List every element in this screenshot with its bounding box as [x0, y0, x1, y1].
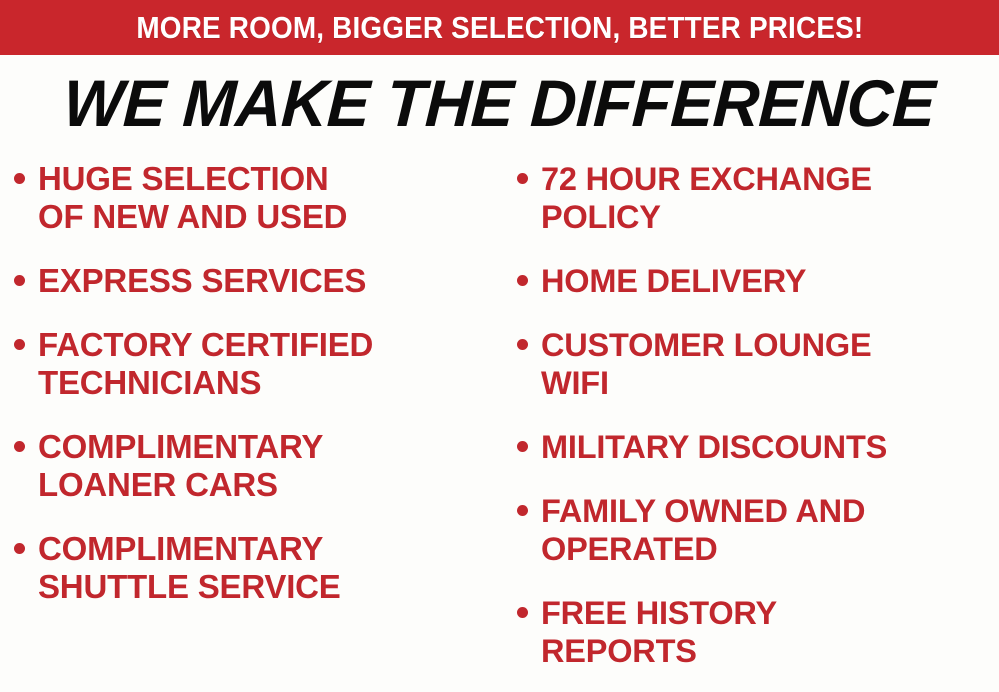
list-item-label: MILITARY DISCOUNTS — [541, 428, 999, 466]
list-item: 72 HOUR EXCHANGE POLICY — [517, 160, 999, 236]
list-item: CUSTOMER LOUNGE WIFI — [517, 326, 999, 402]
list-item-label: EXPRESS SERVICES — [38, 262, 505, 300]
list-item-label: HOME DELIVERY — [541, 262, 999, 300]
list-item-label: FAMILY OWNED AND OPERATED — [541, 492, 999, 568]
promo-banner-text: MORE ROOM, BIGGER SELECTION, BETTER PRIC… — [136, 12, 863, 43]
list-item-label: FREE HISTORY REPORTS — [541, 594, 999, 670]
benefits-columns: HUGE SELECTION OF NEW AND USED EXPRESS S… — [0, 160, 999, 692]
dot-bullet-icon — [14, 339, 25, 350]
dot-bullet-icon — [517, 339, 528, 350]
dot-bullet-icon — [517, 275, 528, 286]
dot-bullet-icon — [14, 543, 25, 554]
dot-bullet-icon — [517, 441, 528, 452]
list-item: HUGE SELECTION OF NEW AND USED — [14, 160, 505, 236]
list-item-label: COMPLIMENTARY LOANER CARS — [38, 428, 505, 504]
benefits-column-right: 72 HOUR EXCHANGE POLICY HOME DELIVERY CU… — [505, 160, 999, 692]
list-item-label: FACTORY CERTIFIED TECHNICIANS — [38, 326, 505, 402]
list-item: EXPRESS SERVICES — [14, 262, 505, 300]
dot-bullet-icon — [517, 173, 528, 184]
list-item-label: CUSTOMER LOUNGE WIFI — [541, 326, 999, 402]
dot-bullet-icon — [14, 441, 25, 452]
dot-bullet-icon — [14, 275, 25, 286]
list-item: HOME DELIVERY — [517, 262, 999, 300]
headline-container: WE MAKE THE DIFFERENCE — [0, 62, 999, 144]
dealership-promo-poster: MORE ROOM, BIGGER SELECTION, BETTER PRIC… — [0, 0, 999, 692]
promo-banner: MORE ROOM, BIGGER SELECTION, BETTER PRIC… — [0, 0, 999, 55]
list-item-label: COMPLIMENTARY SHUTTLE SERVICE — [38, 530, 505, 606]
list-item: FACTORY CERTIFIED TECHNICIANS — [14, 326, 505, 402]
list-item: FAMILY OWNED AND OPERATED — [517, 492, 999, 568]
list-item: MILITARY DISCOUNTS — [517, 428, 999, 466]
list-item: COMPLIMENTARY LOANER CARS — [14, 428, 505, 504]
dot-bullet-icon — [14, 173, 25, 184]
list-item: FREE HISTORY REPORTS — [517, 594, 999, 670]
benefits-column-left: HUGE SELECTION OF NEW AND USED EXPRESS S… — [0, 160, 505, 692]
list-item-label: 72 HOUR EXCHANGE POLICY — [541, 160, 999, 236]
dot-bullet-icon — [517, 607, 528, 618]
dot-bullet-icon — [517, 505, 528, 516]
list-item-label: HUGE SELECTION OF NEW AND USED — [38, 160, 505, 236]
page-title: WE MAKE THE DIFFERENCE — [62, 70, 937, 136]
list-item: COMPLIMENTARY SHUTTLE SERVICE — [14, 530, 505, 606]
